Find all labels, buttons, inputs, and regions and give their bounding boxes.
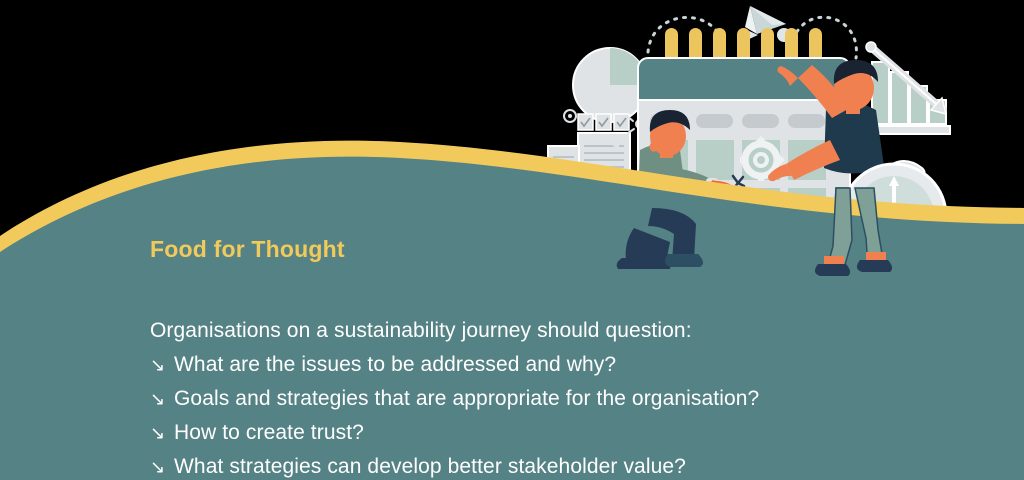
list-item: ↘ What strategies can develop better sta… — [150, 456, 910, 477]
list-item: ↘ How to create trust? — [150, 422, 910, 443]
page-title: Food for Thought — [150, 236, 910, 264]
intro-paragraph: Organisations on a sustainability journe… — [150, 320, 910, 341]
list-item: ↘ What are the issues to be addressed an… — [150, 354, 910, 375]
list-item-label: How to create trust? — [174, 422, 910, 443]
arrow-down-right-icon: ↘ — [150, 458, 174, 476]
list-item-label: What strategies can develop better stake… — [174, 456, 910, 477]
list-item-label: Goals and strategies that are appropriat… — [174, 388, 910, 409]
arrow-down-right-icon: ↘ — [150, 424, 174, 442]
arrow-down-right-icon: ↘ — [150, 356, 174, 374]
arrow-down-right-icon: ↘ — [150, 390, 174, 408]
list-item-label: What are the issues to be addressed and … — [174, 354, 910, 375]
list-item: ↘ Goals and strategies that are appropri… — [150, 388, 910, 409]
slide-canvas: $ $ $ — [0, 0, 1024, 480]
text-content: Food for Thought Organisations on a sust… — [150, 236, 910, 477]
